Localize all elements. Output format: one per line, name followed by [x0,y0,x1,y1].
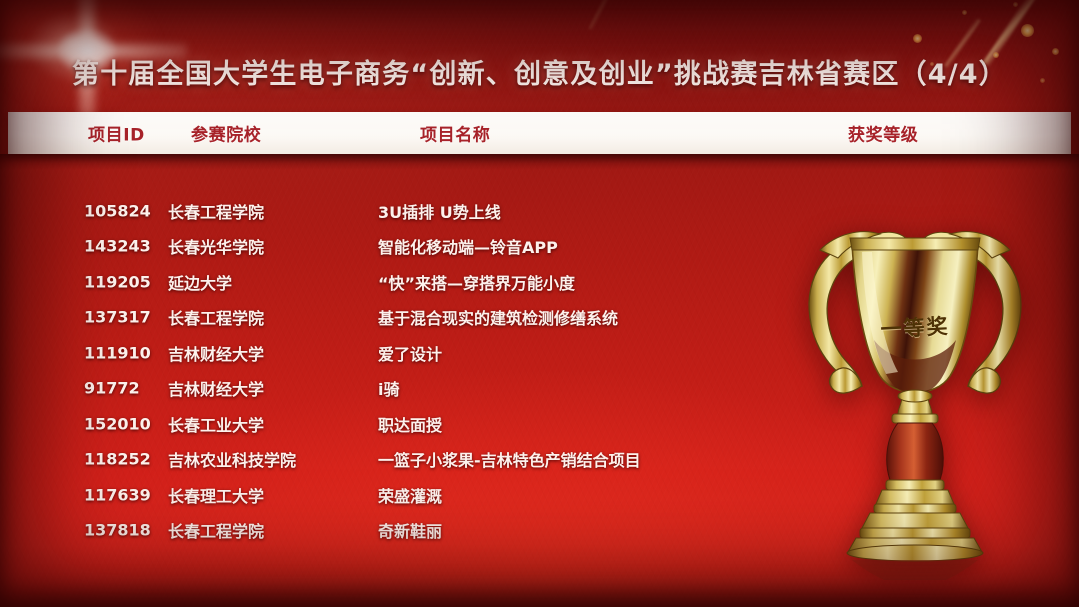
cell-school: 长春光华学院 [168,234,264,258]
table-row: 137818 长春工程学院 奇新鞋丽 [0,513,1079,549]
cell-project: i骑 [378,376,400,400]
cell-school: 吉林财经大学 [168,376,264,400]
cell-school: 吉林财经大学 [168,341,264,365]
cell-school: 延边大学 [168,270,232,294]
cell-project: “快”来搭—穿搭界万能小度 [378,270,575,294]
column-header-school: 参赛院校 [191,121,261,146]
table-body: 105824 长春工程学院 3U插排 U势上线 143243 长春光华学院 智能… [0,193,1079,548]
table-row: 91772 吉林财经大学 i骑 [0,371,1079,407]
table-row: 143243 长春光华学院 智能化移动端—铃音APP [0,229,1079,265]
table-row: 119205 延边大学 “快”来搭—穿搭界万能小度 [0,264,1079,300]
cell-project: 奇新鞋丽 [378,518,442,542]
cell-project: 一篮子小浆果-吉林特色产销结合项目 [378,447,641,471]
cell-project: 智能化移动端—铃音APP [378,234,558,258]
cell-project-id: 137317 [84,308,151,327]
cell-project: 3U插排 U势上线 [378,199,501,223]
cell-project-id: 152010 [84,414,151,433]
cell-project-id: 137818 [84,521,151,540]
cell-school: 长春工程学院 [168,518,264,542]
cell-project: 荣盛灌溉 [378,483,442,507]
cell-school: 长春工业大学 [168,412,264,436]
cell-school: 长春工程学院 [168,199,264,223]
table-row: 137317 长春工程学院 基于混合现实的建筑检测修缮系统 [0,300,1079,336]
table-row: 152010 长春工业大学 职达面授 [0,406,1079,442]
column-header-project-id: 项目ID [88,121,145,146]
cell-project-id: 143243 [84,237,151,256]
cell-project: 职达面授 [378,412,442,436]
cell-project: 基于混合现实的建筑检测修缮系统 [378,305,618,329]
cell-school: 长春工程学院 [168,305,264,329]
slide-stage: 第十届全国大学生电子商务“创新、创意及创业”挑战赛吉林省赛区（4/4） 项目ID… [0,0,1079,607]
table-row: 105824 长春工程学院 3U插排 U势上线 [0,193,1079,229]
table-row: 118252 吉林农业科技学院 一篮子小浆果-吉林特色产销结合项目 [0,442,1079,478]
cell-school: 长春理工大学 [168,483,264,507]
cell-project-id: 119205 [84,272,151,291]
column-header-project: 项目名称 [420,121,490,146]
cell-project-id: 118252 [84,450,151,469]
cell-project: 爱了设计 [378,341,442,365]
column-header-award: 获奖等级 [848,121,918,146]
table-row: 111910 吉林财经大学 爱了设计 [0,335,1079,371]
cell-school: 吉林农业科技学院 [168,447,296,471]
table-row: 117639 长春理工大学 荣盛灌溉 [0,477,1079,513]
cell-project-id: 91772 [84,379,140,398]
cell-project-id: 111910 [84,343,151,362]
cell-project-id: 117639 [84,485,151,504]
page-title: 第十届全国大学生电子商务“创新、创意及创业”挑战赛吉林省赛区（4/4） [0,52,1079,91]
cell-project-id: 105824 [84,201,151,220]
table-header: 项目ID 参赛院校 项目名称 获奖等级 [8,112,1071,154]
